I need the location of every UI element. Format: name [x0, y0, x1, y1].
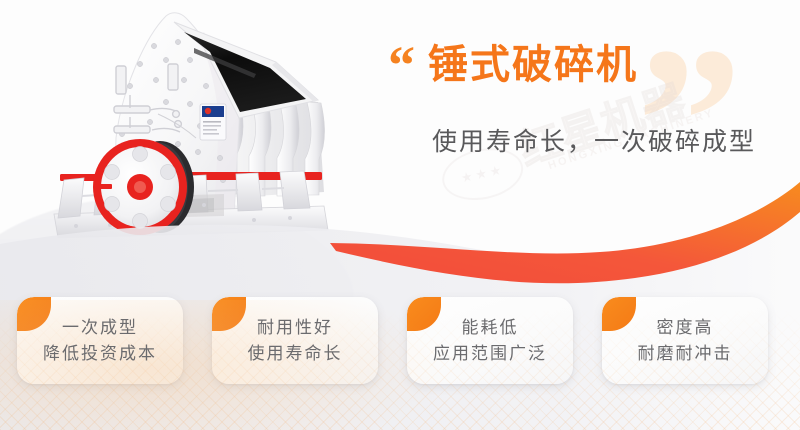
card-corner-accent-icon: [602, 297, 636, 331]
feature-card[interactable]: 一次成型 降低投资成本: [17, 297, 183, 384]
product-image-hammer-crusher: [18, 2, 348, 254]
card-corner-accent-icon: [17, 297, 51, 331]
page-subtitle: 使用寿命长，一次破碎成型: [432, 122, 756, 158]
open-quote-icon: “: [388, 44, 416, 86]
card-corner-accent-icon: [407, 297, 441, 331]
feature-card-line-1: 耐用性好: [257, 317, 333, 338]
product-banner: ” ★★★ 红星机器 HONGXING MACHINERY: [0, 0, 800, 430]
feature-card[interactable]: 能耗低 应用范围广泛: [407, 297, 573, 384]
hammer-crusher-illustration: [18, 2, 348, 254]
feature-card-line-1: 一次成型: [62, 317, 138, 338]
feature-card-line-2: 降低投资成本: [43, 343, 157, 364]
feature-card-line-2: 应用范围广泛: [433, 343, 547, 364]
feature-card-line-1: 能耗低: [462, 317, 519, 338]
card-corner-accent-icon: [212, 297, 246, 331]
page-title: 锤式破碎机: [428, 44, 638, 86]
feature-card-line-2: 耐磨耐冲击: [638, 343, 733, 364]
feature-card-list: 一次成型 降低投资成本 耐用性好 使用寿命长 能耗低 应用范围广泛 密度高 耐磨…: [17, 297, 783, 385]
feature-card[interactable]: 耐用性好 使用寿命长: [212, 297, 378, 384]
feature-card[interactable]: 密度高 耐磨耐冲击: [602, 297, 768, 384]
feature-card-line-2: 使用寿命长: [248, 343, 343, 364]
machine-nameplate: [200, 104, 226, 140]
feature-card-line-1: 密度高: [657, 317, 714, 338]
headline-block: “ 锤式破碎机: [388, 44, 778, 86]
flywheel: [93, 139, 194, 235]
